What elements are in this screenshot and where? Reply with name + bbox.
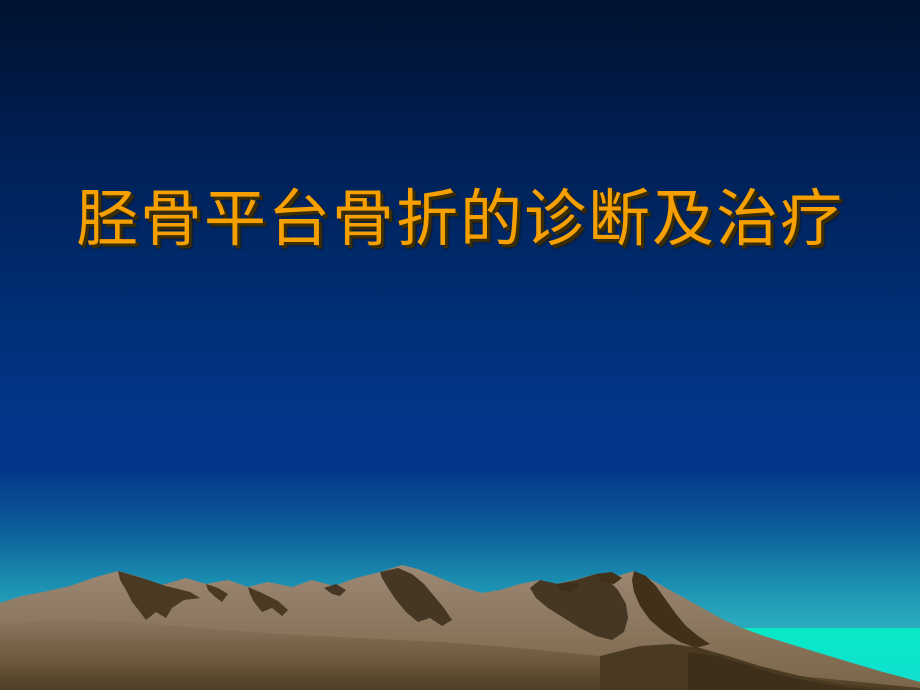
mountain-range-graphic <box>0 560 920 690</box>
presentation-slide: 胫骨平台骨折的诊断及治疗 <box>0 0 920 690</box>
